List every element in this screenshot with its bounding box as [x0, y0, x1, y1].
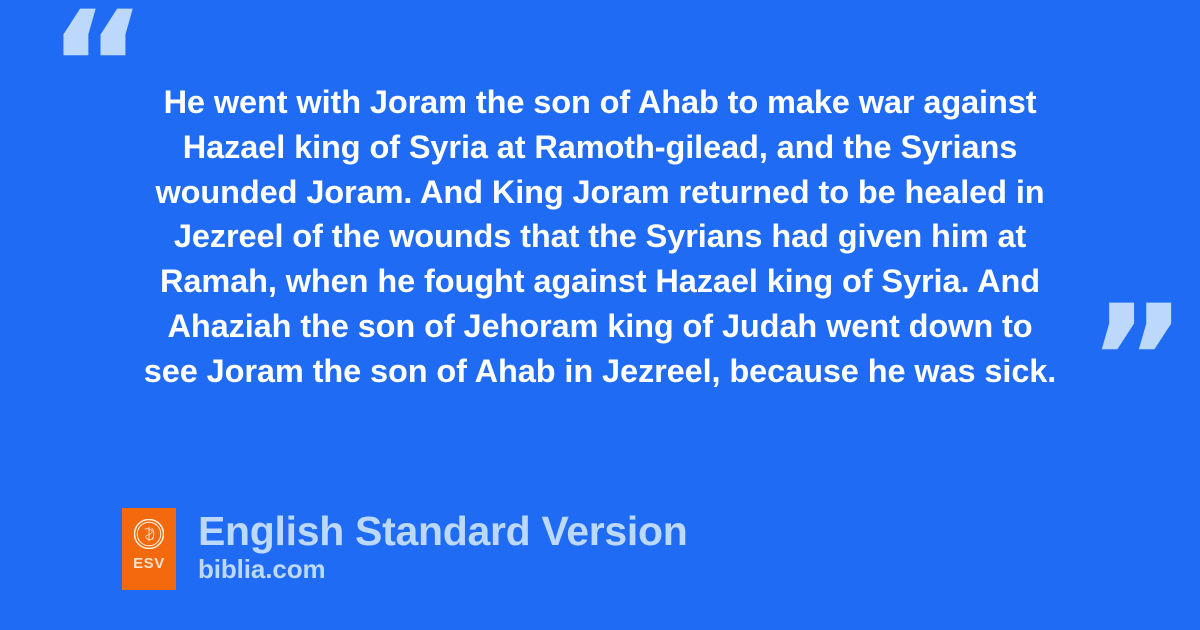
verse-text: He went with Joram the son of Ahab to ma…: [100, 80, 1100, 394]
closing-quote-icon: ”: [1088, 286, 1185, 436]
site-url-label[interactable]: biblia.com: [198, 554, 687, 584]
verse-container: He went with Joram the son of Ahab to ma…: [100, 80, 1100, 394]
verse-image-card: “ He went with Joram the son of Ahab to …: [0, 0, 1200, 630]
bible-version-name: English Standard Version: [198, 508, 687, 554]
attribution[interactable]: ESV English Standard Version biblia.com: [122, 508, 687, 590]
esv-seal-icon: [134, 519, 164, 549]
esv-abbreviation-label: ESV: [133, 556, 165, 571]
esv-logo[interactable]: ESV: [122, 508, 176, 590]
attribution-text: English Standard Version biblia.com: [198, 508, 687, 584]
